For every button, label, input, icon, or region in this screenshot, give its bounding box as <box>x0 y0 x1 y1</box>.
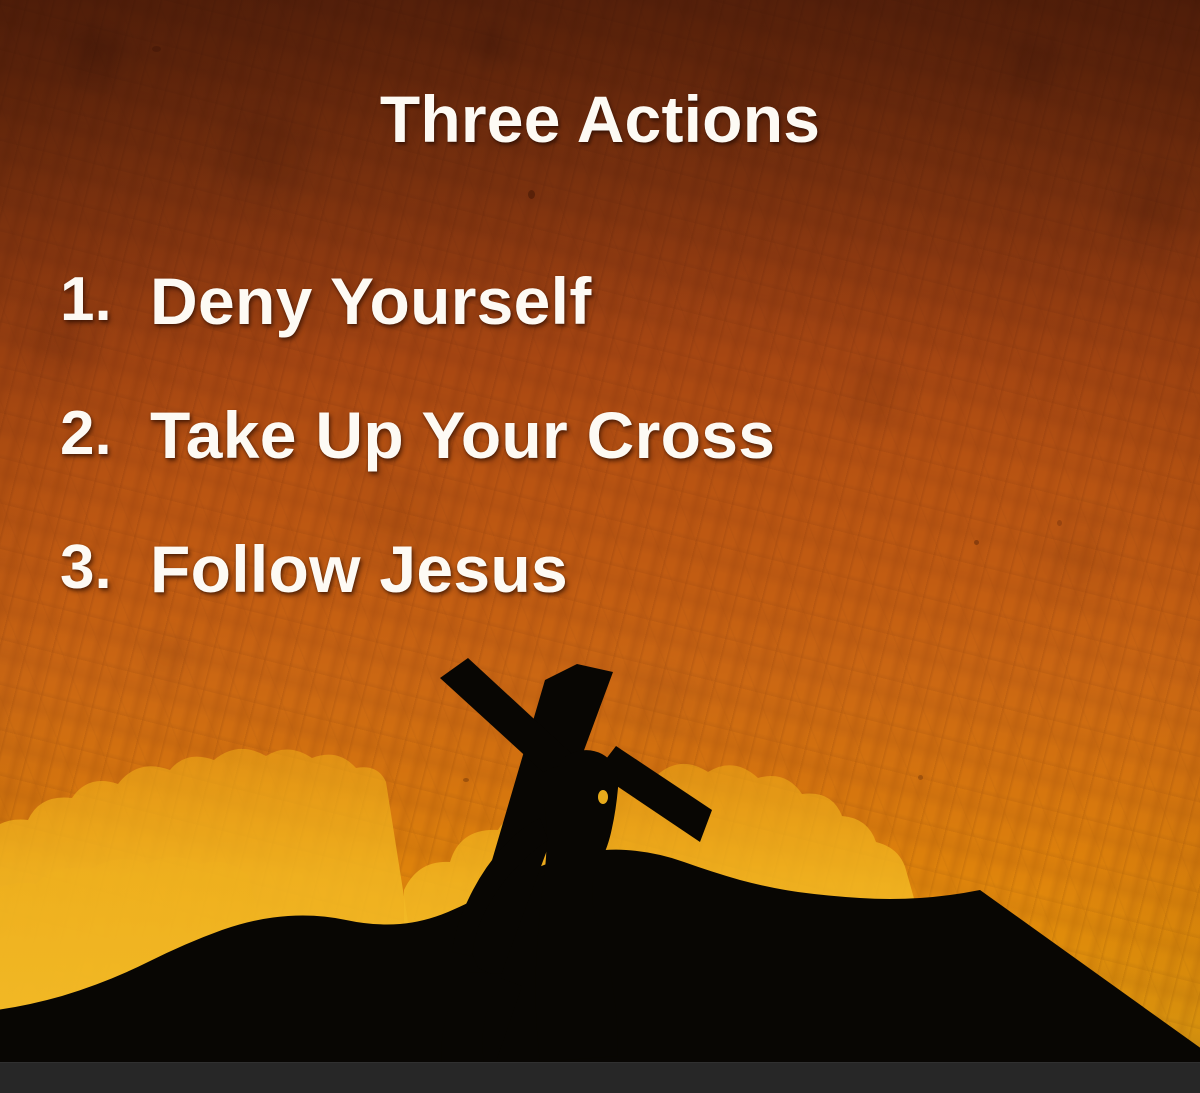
slide-canvas: Three Actions 1. Deny Yourself 2. Take U… <box>0 0 1200 1093</box>
bottom-bar-sheen <box>0 1062 1200 1063</box>
list-item: 2. Take Up Your Cross <box>0 402 1200 536</box>
list-item-label: Follow Jesus <box>150 536 568 602</box>
list-item: 1. Deny Yourself <box>0 268 1200 402</box>
list-item: 3. Follow Jesus <box>0 536 1200 670</box>
list-item-number: 1. <box>0 268 150 331</box>
page-title: Three Actions <box>0 86 1200 152</box>
list-item-number: 3. <box>0 536 150 599</box>
list-item-number: 2. <box>0 402 150 465</box>
bottom-letterbox-bar <box>0 1062 1200 1093</box>
list-item-label: Take Up Your Cross <box>150 402 775 468</box>
actions-list: 1. Deny Yourself 2. Take Up Your Cross 3… <box>0 268 1200 670</box>
list-item-label: Deny Yourself <box>150 268 592 334</box>
text-layer: Three Actions 1. Deny Yourself 2. Take U… <box>0 0 1200 1093</box>
